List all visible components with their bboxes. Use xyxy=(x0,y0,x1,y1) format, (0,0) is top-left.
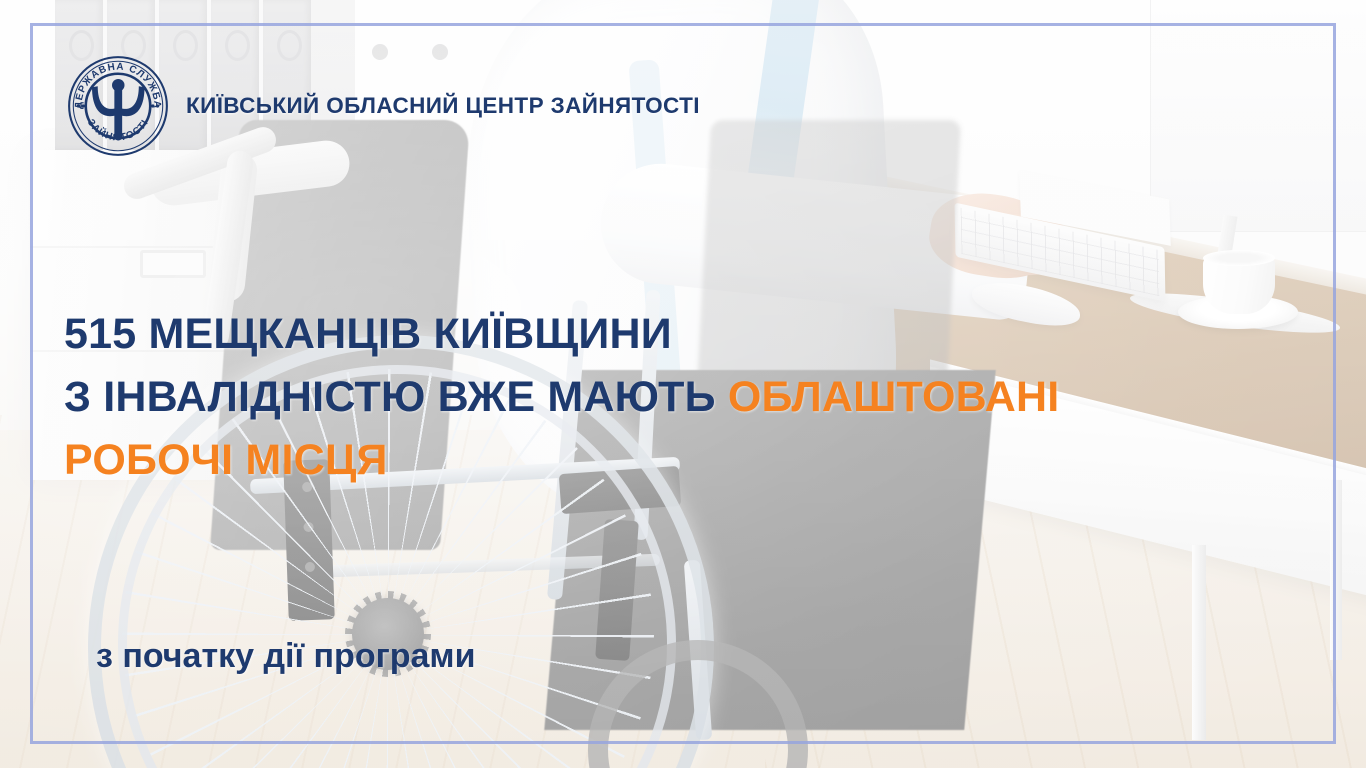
header: ДЕРЖАВНА СЛУЖБА ЗАЙНЯТОСТІ КИЇВСЬКИЙ ОБЛ… xyxy=(66,54,700,158)
subline: з початку дії програми xyxy=(96,637,475,676)
headline-line-3: РОБОЧІ МІСЦЯ xyxy=(64,429,1324,492)
poster-canvas: ДЕРЖАВНА СЛУЖБА ЗАЙНЯТОСТІ КИЇВСЬКИЙ ОБЛ… xyxy=(0,0,1366,768)
organization-title: КИЇВСЬКИЙ ОБЛАСНИЙ ЦЕНТР ЗАЙНЯТОСТІ xyxy=(186,93,700,119)
headline-line-2-blue: З ІНВАЛІДНІСТЮ ВЖЕ МАЮТЬ xyxy=(64,373,728,421)
headline-line-2: З ІНВАЛІДНІСТЮ ВЖЕ МАЮТЬ ОБЛАШТОВАНІ xyxy=(64,366,1324,429)
headline: 515 МЕЩКАНЦІВ КИЇВЩИНИ З ІНВАЛІДНІСТЮ ВЖ… xyxy=(64,303,1324,491)
state-employment-service-logo-icon: ДЕРЖАВНА СЛУЖБА ЗАЙНЯТОСТІ xyxy=(66,54,170,158)
headline-line-1: 515 МЕЩКАНЦІВ КИЇВЩИНИ xyxy=(64,303,1324,366)
headline-line-2-orange: ОБЛАШТОВАНІ xyxy=(728,373,1060,421)
